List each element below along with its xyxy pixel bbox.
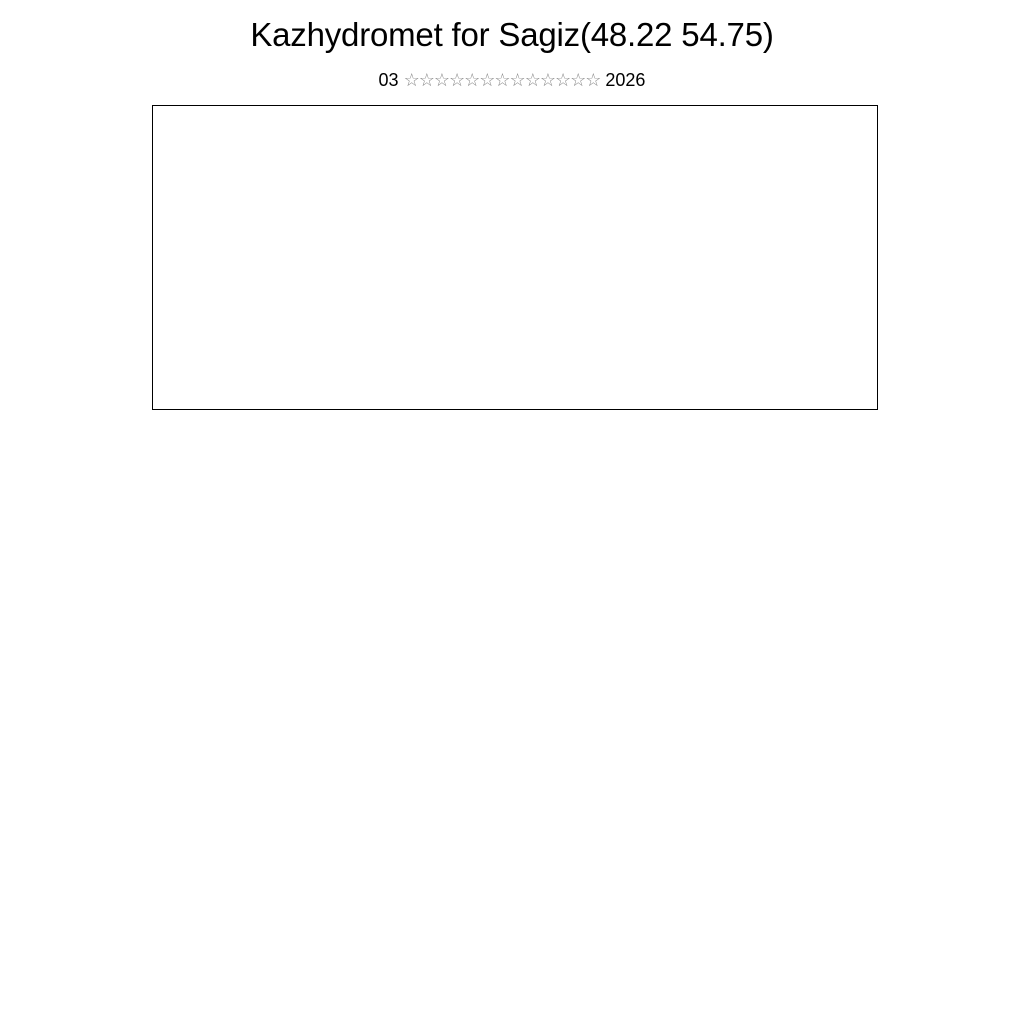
temperature-field xyxy=(153,106,878,410)
upper-air-cross-section-panel xyxy=(0,0,1024,470)
cross-section-plot-area xyxy=(152,105,878,410)
